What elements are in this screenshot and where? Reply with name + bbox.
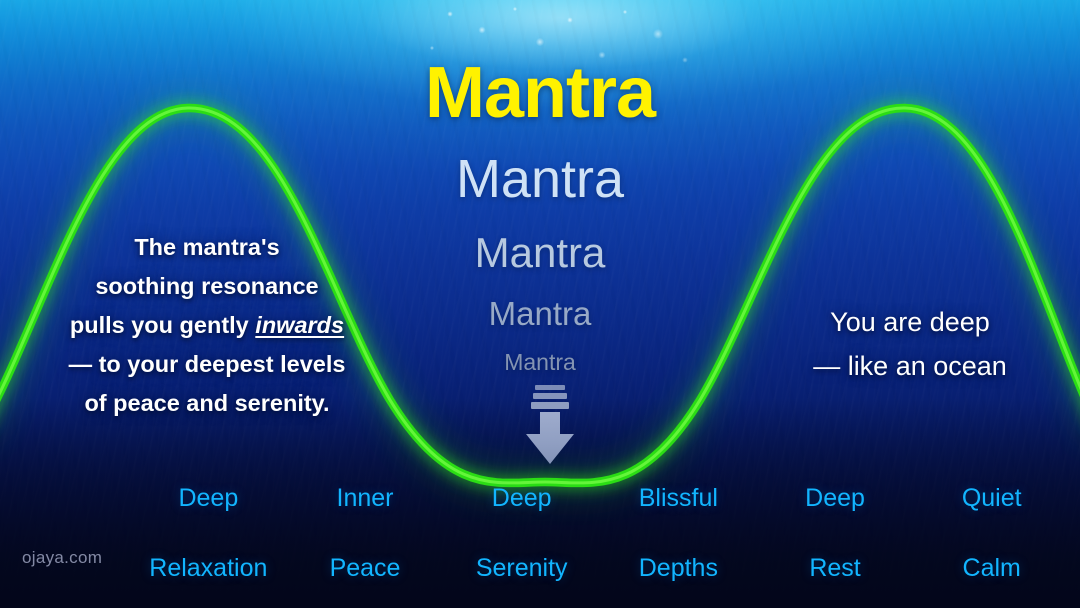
depth-label-line-1: Deep [805, 484, 865, 512]
depth-label-deep-serenity: Deep Serenity [443, 446, 600, 586]
depth-label-line-2: Depths [639, 554, 718, 582]
depth-label-line-2: Relaxation [149, 554, 267, 582]
depth-label-line-2: Serenity [476, 554, 568, 582]
depth-label-blissful-depths: Blissful Depths [600, 446, 757, 586]
right-copy-block: You are deep — like an ocean [760, 300, 1060, 388]
depth-labels-row: Deep Relaxation Inner Peace Deep Serenit… [130, 446, 1070, 586]
infographic-canvas: Mantra Mantra Mantra Mantra Mantra The m… [0, 0, 1080, 608]
depth-label-line-2: Rest [809, 554, 860, 582]
depth-label-line-1: Blissful [639, 484, 718, 512]
depth-label-quiet-calm: Quiet Calm [913, 446, 1070, 586]
site-watermark: ojaya.com [22, 548, 102, 568]
depth-label-line-1: Inner [337, 484, 394, 512]
left-copy-block: The mantra's soothing resonance pulls yo… [32, 228, 382, 423]
left-copy-line-4: — to your deepest levels [69, 351, 346, 377]
depth-label-line-1: Quiet [962, 484, 1022, 512]
left-copy-line-1: The mantra's [134, 234, 279, 260]
depth-label-line-1: Deep [178, 484, 238, 512]
depth-label-deep-rest: Deep Rest [757, 446, 914, 586]
left-copy-emphasis-inwards: inwards [255, 312, 344, 338]
right-copy-line-1: You are deep [830, 307, 990, 337]
depth-label-inner-peace: Inner Peace [287, 446, 444, 586]
right-copy-line-2: — like an ocean [813, 351, 1007, 381]
left-copy-line-3-pre: pulls you gently [70, 312, 255, 338]
depth-label-line-2: Calm [963, 554, 1021, 582]
left-copy-line-5: of peace and serenity. [84, 390, 329, 416]
depth-label-line-1: Deep [492, 484, 552, 512]
left-copy-line-2: soothing resonance [95, 273, 318, 299]
depth-label-deep-relaxation: Deep Relaxation [130, 446, 287, 586]
depth-label-line-2: Peace [330, 554, 401, 582]
